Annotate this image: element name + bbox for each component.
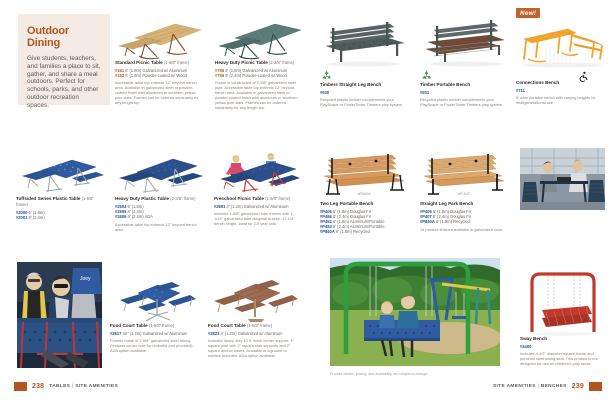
product-name: Straight Leg Park Bench bbox=[420, 201, 508, 207]
product-timber-portable-bench[interactable]: Timber Portable Bench #931 Recycled plas… bbox=[420, 18, 508, 107]
product-description: Includes heavy duty 10 ft. finish center… bbox=[208, 338, 298, 358]
tuffsided-plastic-table-art bbox=[16, 150, 104, 196]
product-tuffsided-plastic-table[interactable]: Tuffsided Series Plastic Table (1-5/8" f… bbox=[16, 150, 104, 220]
product-description: Accessible table top extends 12" beyond … bbox=[115, 222, 203, 232]
sku-row: #2817 46" (1.2m) Galvanized w/ Aluminum bbox=[110, 331, 198, 336]
disclaimer-text: Product details, pricing, and availabili… bbox=[330, 372, 428, 376]
footer-color-bar bbox=[14, 382, 27, 391]
sku-list: #755 6' (1.8m) Galvanized w/ Aluminum #7… bbox=[215, 68, 303, 78]
product-description: Accessible table top extends 12" beyond … bbox=[115, 80, 203, 105]
product-two-leg-portable-bench[interactable]: #P840A Two Leg Portable Bench #P406 6' (… bbox=[320, 152, 408, 235]
product-name: Connections Bench bbox=[516, 80, 608, 86]
product-name: Sway Bench bbox=[520, 336, 608, 342]
product-description: Frame is constructed of 2-3/8" galvanize… bbox=[215, 80, 303, 110]
sku-list: #P406 6' (1.8m) Douglas Fir #P466 8' (2.… bbox=[320, 209, 408, 235]
sku-list: #2801 4' (1.2m) Galvanized w/ Aluminum bbox=[214, 204, 302, 209]
footer-left: 238 TABLES | SITE AMENITIES bbox=[14, 382, 118, 391]
recycle-icon bbox=[320, 69, 333, 82]
sku-list: #P406 6' (1.8m) Douglas Fir #P407 8' (2.… bbox=[420, 209, 508, 225]
product-connections-bench[interactable]: New! bbox=[516, 8, 608, 105]
sku-list: #711 bbox=[516, 88, 608, 93]
heavy-duty-picnic-table-art bbox=[215, 16, 303, 60]
sku-row: #2606 8' (2.4m) ADA bbox=[115, 214, 203, 219]
preschool-picnic-table-art bbox=[214, 150, 302, 196]
intro-body-text: Give students, teachers, and families a … bbox=[27, 55, 101, 110]
sku-row: #P840A 6' (1.8m) Recycled bbox=[420, 219, 508, 224]
sku-list: #2823 4' (1.2m) Galvanized w/ Aluminum bbox=[208, 331, 298, 336]
left-page: Outdoor Dining Give students, teachers, … bbox=[0, 0, 308, 400]
food-court-table-2-art bbox=[208, 275, 298, 323]
sku-list: #2817 46" (1.2m) Galvanized w/ Aluminum bbox=[110, 331, 198, 336]
product-name: Heavy Duty Plastic Table (2-3/8" frame) bbox=[115, 196, 203, 202]
two-leg-portable-bench-art bbox=[320, 152, 408, 198]
page-number: 239 bbox=[572, 383, 584, 390]
sku-list: #930 bbox=[320, 90, 408, 95]
sku-row: #930 bbox=[320, 90, 408, 95]
product-name: Food Court Table (1-5/8" frame) bbox=[110, 323, 198, 329]
product-name: Standard Picnic Table (1-5/8" frame) bbox=[115, 60, 203, 66]
product-name: Heavy Duty Picnic Table (2-3/8" frame) bbox=[215, 60, 303, 66]
product-name: Food Court Table (1-5/8" frame) bbox=[208, 323, 298, 329]
product-description: Includes 1-5/8" galvanized tube frames w… bbox=[214, 211, 302, 226]
product-description: 5' wide portable bench with varying heig… bbox=[516, 95, 608, 105]
sku-list: #2604 6' (1.8m) #2605 8' (2.4m) #2606 8'… bbox=[115, 204, 203, 220]
page-title: Outdoor Dining bbox=[27, 25, 101, 49]
product-heavy-duty-plastic-table[interactable]: Heavy Duty Plastic Table (2-3/8" frame) … bbox=[115, 150, 203, 232]
product-name: Timbers Straight Leg Bench bbox=[320, 82, 408, 88]
new-badge: New! bbox=[516, 8, 540, 18]
sku-row: #756 8' (2.4m) Powder-coated w/ Wood bbox=[215, 73, 303, 78]
standard-picnic-table-art bbox=[115, 16, 203, 60]
swing-seat bbox=[542, 306, 592, 327]
product-food-court-table-2[interactable]: Food Court Table (1-5/8" frame) #2823 4'… bbox=[208, 275, 298, 358]
product-preschool-picnic-table[interactable]: Preschool Picnic Table (1-5/8" frame) #2… bbox=[214, 150, 302, 226]
connections-bench-art bbox=[516, 21, 608, 71]
seniors-at-table-photo: Joey bbox=[17, 262, 102, 368]
product-description: Recycled plastic lumber complements your… bbox=[420, 97, 508, 107]
catalog-spread: Outdoor Dining Give students, teachers, … bbox=[0, 0, 616, 400]
product-name: Tuffsided Series Plastic Table (1-5/8" f… bbox=[16, 196, 104, 208]
sku-row: #162 6' (1.8m) Powder-coated w/ Wood bbox=[115, 73, 203, 78]
person-blue-shirt-background: Joey bbox=[71, 268, 102, 294]
footer-section: TABLES | SITE AMENITIES bbox=[49, 384, 118, 389]
product-description: Recycled plastic lumber complements your… bbox=[320, 97, 408, 107]
product-description: Includes 4-1/2" diameter square frame an… bbox=[520, 351, 608, 366]
sku-list: #161 6' (1.8m) Galvanized w/ Aluminum #1… bbox=[115, 68, 203, 78]
product-description: 14 product finishes available in galvani… bbox=[420, 227, 508, 232]
footer-section: SITE AMENITIES | BENCHES bbox=[493, 384, 567, 389]
product-straight-leg-park-bench[interactable]: #P-047 Straight Leg Park Bench #P406 6' … bbox=[420, 152, 508, 232]
page-number: 238 bbox=[32, 383, 44, 390]
product-timbers-straight-leg-bench[interactable]: Timbers Straight Leg Bench #930 Recycled… bbox=[320, 18, 408, 107]
timber-portable-bench-art bbox=[420, 18, 508, 68]
heavy-duty-plastic-table-art bbox=[115, 150, 203, 196]
sku-row: #3400 bbox=[520, 344, 608, 349]
product-name: Timber Portable Bench bbox=[420, 82, 508, 88]
product-sway-bench[interactable]: Sway Bench #3400 Includes 4-1/2" diamete… bbox=[520, 266, 608, 366]
recycle-icon bbox=[420, 69, 433, 82]
right-page: Timbers Straight Leg Bench #930 Recycled… bbox=[308, 0, 616, 400]
product-standard-picnic-table[interactable]: Standard Picnic Table (1-5/8" frame) #16… bbox=[115, 16, 203, 105]
swing-bench-outdoor-photo bbox=[330, 258, 500, 366]
footer-color-bar bbox=[589, 382, 602, 391]
timbers-straight-leg-bench-art bbox=[320, 18, 408, 68]
svg-text:Joey: Joey bbox=[80, 276, 91, 282]
sku-row: #2001 8' (2.4m) bbox=[16, 215, 104, 220]
sku-row: #2823 4' (1.2m) Galvanized w/ Aluminum bbox=[208, 331, 298, 336]
product-description: Frames made of 1-5/8" galvanized steel t… bbox=[110, 338, 198, 353]
sku-row: #2801 4' (1.2m) Galvanized w/ Aluminum bbox=[214, 204, 302, 209]
sku-list: #931 bbox=[420, 90, 508, 95]
food-court-table-1-art bbox=[110, 275, 198, 323]
footer-right: SITE AMENITIES | BENCHES 239 bbox=[493, 382, 602, 391]
sku-row: #931 bbox=[420, 90, 508, 95]
patio-table-photo bbox=[520, 148, 605, 210]
sku-row: #711 bbox=[516, 88, 608, 93]
sku-list: #3400 bbox=[520, 344, 608, 349]
product-name: Preschool Picnic Table (1-5/8" frame) bbox=[214, 196, 302, 202]
straight-leg-park-bench-art bbox=[420, 152, 508, 198]
sway-bench-art bbox=[520, 266, 608, 336]
outdoor-dining-intro: Outdoor Dining Give students, teachers, … bbox=[18, 14, 110, 105]
sku-row: #P840A 6' (1.8m) Recycled bbox=[320, 229, 408, 234]
product-name: Two Leg Portable Bench bbox=[320, 201, 408, 207]
product-food-court-table-1[interactable]: Food Court Table (1-5/8" frame) #2817 46… bbox=[110, 275, 198, 353]
product-heavy-duty-picnic-table[interactable]: Heavy Duty Picnic Table (2-3/8" frame) #… bbox=[215, 16, 303, 110]
sku-list: #2000 6' (1.8m) #2001 8' (2.4m) bbox=[16, 210, 104, 220]
